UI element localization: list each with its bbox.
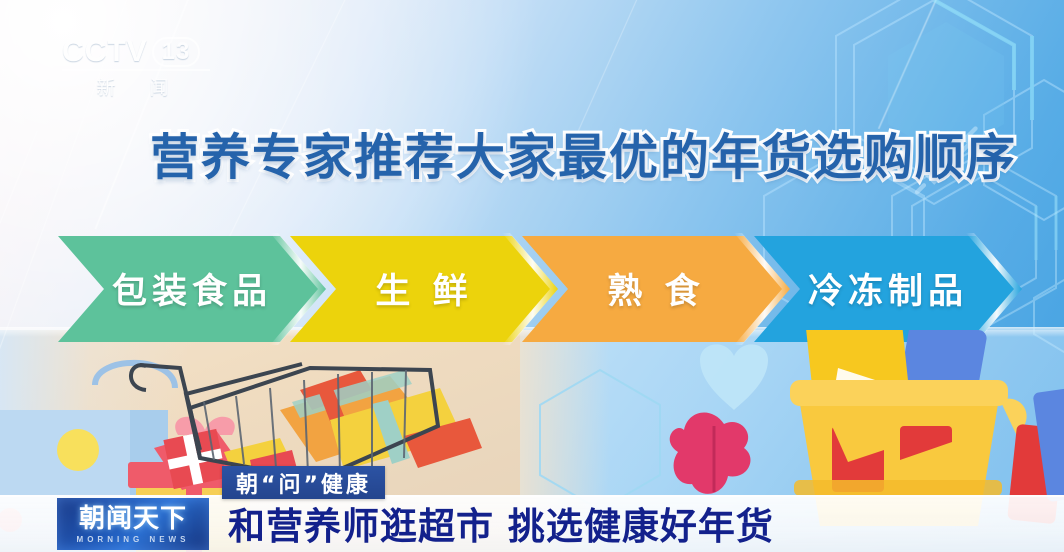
step-packaged-food: 包装食品 bbox=[58, 236, 326, 342]
program-logo-en: MORNING NEWS bbox=[77, 535, 190, 544]
cctv-channel-logo: CCTV 13 新 闻 bbox=[62, 36, 217, 98]
shopping-order-flow: 包装食品 生 鲜 熟 食 冷冻制品 bbox=[58, 236, 1018, 342]
cctv-logo-subtitle: 新 闻 bbox=[62, 73, 217, 100]
program-logo-zh: 朝闻天下 bbox=[79, 505, 187, 533]
step-frozen-food: 冷冻制品 bbox=[754, 236, 1022, 342]
bag-dot bbox=[57, 429, 99, 471]
cctv-logo-rule bbox=[62, 69, 210, 71]
step-label: 熟 食 bbox=[607, 263, 704, 314]
heart-shape bbox=[700, 344, 768, 410]
step-label: 冷冻制品 bbox=[808, 263, 968, 314]
step-label: 包装食品 bbox=[112, 263, 272, 314]
leaf-shape bbox=[670, 413, 751, 494]
cctv-logo-text: CCTV bbox=[62, 36, 148, 68]
cctv-channel-number: 13 bbox=[152, 37, 201, 67]
step-fresh-food: 生 鲜 bbox=[290, 236, 558, 342]
step-label: 生 鲜 bbox=[375, 263, 472, 314]
segment-tag: 朝“问”健康 bbox=[222, 466, 385, 499]
step-cooked-food: 熟 食 bbox=[522, 236, 790, 342]
broadcast-frame: CCTV 13 新 闻 营养专家推荐大家最优的年货选购顺序 包装食品 生 鲜 熟… bbox=[0, 0, 1064, 552]
page-title: 营养专家推荐大家最优的年货选购顺序 bbox=[150, 127, 950, 189]
program-logo: 朝闻天下 MORNING NEWS bbox=[57, 498, 209, 550]
segment-tag-label: 朝“问”健康 bbox=[236, 467, 371, 499]
news-headline: 和营养师逛超市 挑选健康好年货 bbox=[228, 497, 774, 549]
